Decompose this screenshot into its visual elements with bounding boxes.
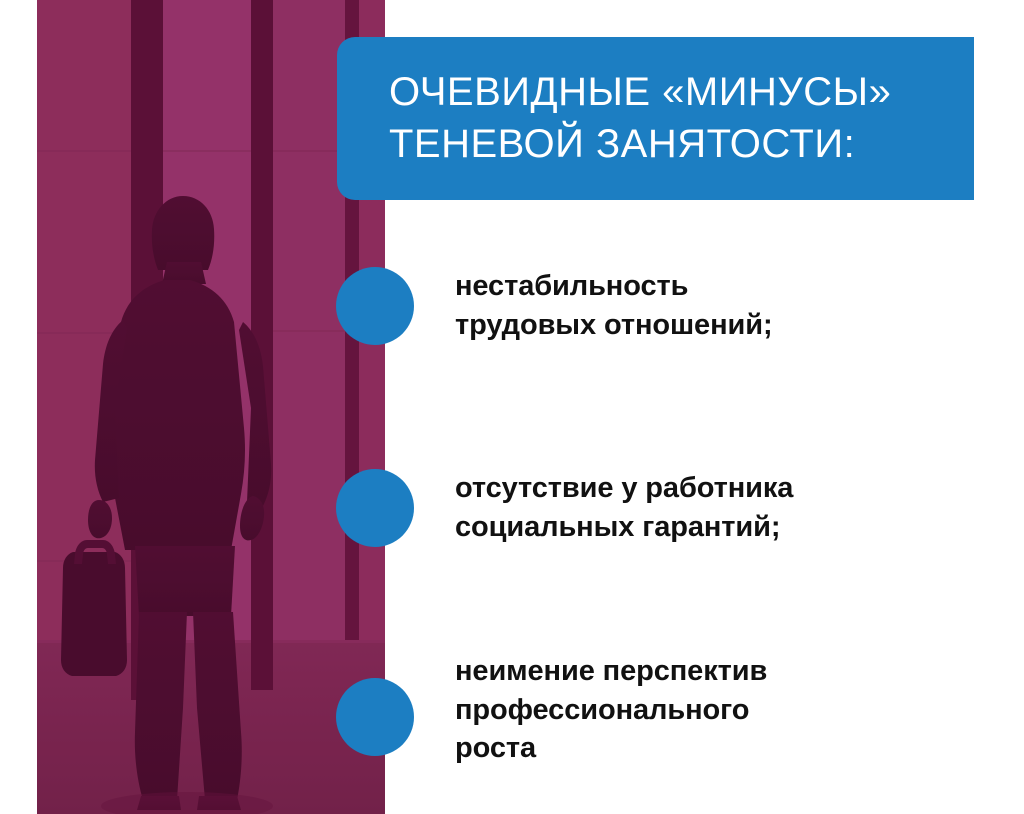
title-line-1: ОЧЕВИДНЫЕ «МИНУСЫ» <box>389 67 954 118</box>
infographic-poster: ОЧЕВИДНЫЕ «МИНУСЫ» ТЕНЕВОЙ ЗАНЯТОСТИ: не… <box>0 0 1024 814</box>
title-line-2: ТЕНЕВОЙ ЗАНЯТОСТИ: <box>389 119 954 170</box>
list-item: отсутствие у работника социальных гарант… <box>336 460 996 556</box>
list-item-line: отсутствие у работника <box>455 469 793 508</box>
list-item-line: трудовых отношений; <box>455 306 773 345</box>
list-item-line: роста <box>455 729 767 768</box>
photo-artwork <box>37 0 385 814</box>
bullet-list: нестабильность трудовых отношений; отсут… <box>336 240 996 768</box>
list-item-line: социальных гарантий; <box>455 508 793 547</box>
list-item-line: нестабильность <box>455 267 773 306</box>
photo-businessman-walking-away <box>37 0 385 814</box>
list-item-line: неимение перспектив <box>455 652 767 691</box>
list-item-text: отсутствие у работника социальных гарант… <box>455 469 793 546</box>
title-banner: ОЧЕВИДНЫЕ «МИНУСЫ» ТЕНЕВОЙ ЗАНЯТОСТИ: <box>337 37 974 200</box>
bullet-circle-icon <box>336 267 414 345</box>
list-item-text: неимение перспектив профессионального ро… <box>455 652 767 768</box>
list-item: неимение перспектив профессионального ро… <box>336 652 996 768</box>
bullet-circle-icon <box>336 678 414 756</box>
bullet-circle-icon <box>336 469 414 547</box>
list-item-text: нестабильность трудовых отношений; <box>455 267 773 344</box>
list-item-line: профессионального <box>455 691 767 730</box>
list-item: нестабильность трудовых отношений; <box>336 258 996 354</box>
